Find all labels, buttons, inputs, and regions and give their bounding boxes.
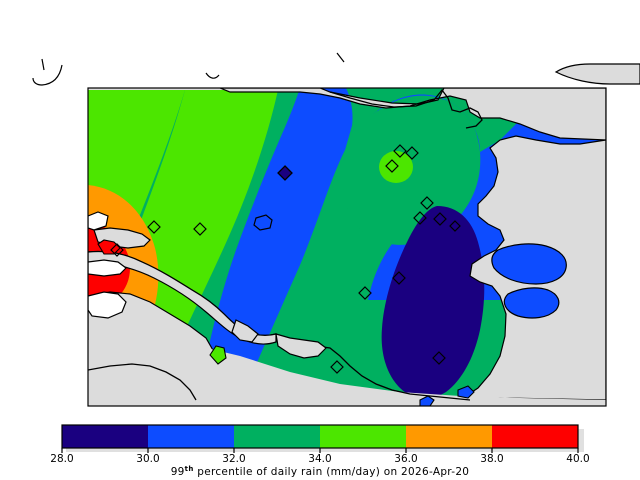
colorbar-panel: 28.0 30.0 32.0 34.0 36.0 38.0 40.0 99th … xyxy=(0,420,640,480)
colorbar-tick-label: 28.0 xyxy=(50,453,73,465)
colorbar-band-32-34 xyxy=(234,425,320,448)
colorbar-tick-label: 40.0 xyxy=(566,453,589,465)
screenshot-root: VictoriaWeather.ca -- Year Total Daily R… xyxy=(0,0,640,480)
colorbar-band-30-32 xyxy=(148,425,234,448)
rain-contour-map xyxy=(0,0,640,420)
colorbar-tick-label: 36.0 xyxy=(394,453,417,465)
colorbar-band-36-38 xyxy=(406,425,492,448)
map-plot-area xyxy=(88,88,606,406)
caption-superscript: th xyxy=(185,465,194,473)
colorbar-band-38-40 xyxy=(492,425,578,448)
caption-pre: 99 xyxy=(171,466,185,478)
colorbar-tick-label: 30.0 xyxy=(136,453,159,465)
colorbar-tick-label: 34.0 xyxy=(308,453,331,465)
caption-post: percentile of daily rain (mm/day) on 202… xyxy=(194,466,470,478)
colorbar-caption: 99th percentile of daily rain (mm/day) o… xyxy=(171,465,470,478)
inland-water-body xyxy=(254,215,272,230)
map-panel xyxy=(0,0,640,420)
east-inlet-mid xyxy=(504,288,558,318)
colorbar-band-34-36 xyxy=(320,425,406,448)
contour-pocket-34-36-ne xyxy=(379,151,413,183)
colorbar-tick-label: 38.0 xyxy=(480,453,503,465)
colorbar-tick-label: 32.0 xyxy=(222,453,245,465)
colorbar-band-28-30 xyxy=(62,425,148,448)
colorbar-bands xyxy=(62,425,578,448)
colorbar: 28.0 30.0 32.0 34.0 36.0 38.0 40.0 99th … xyxy=(0,420,640,480)
